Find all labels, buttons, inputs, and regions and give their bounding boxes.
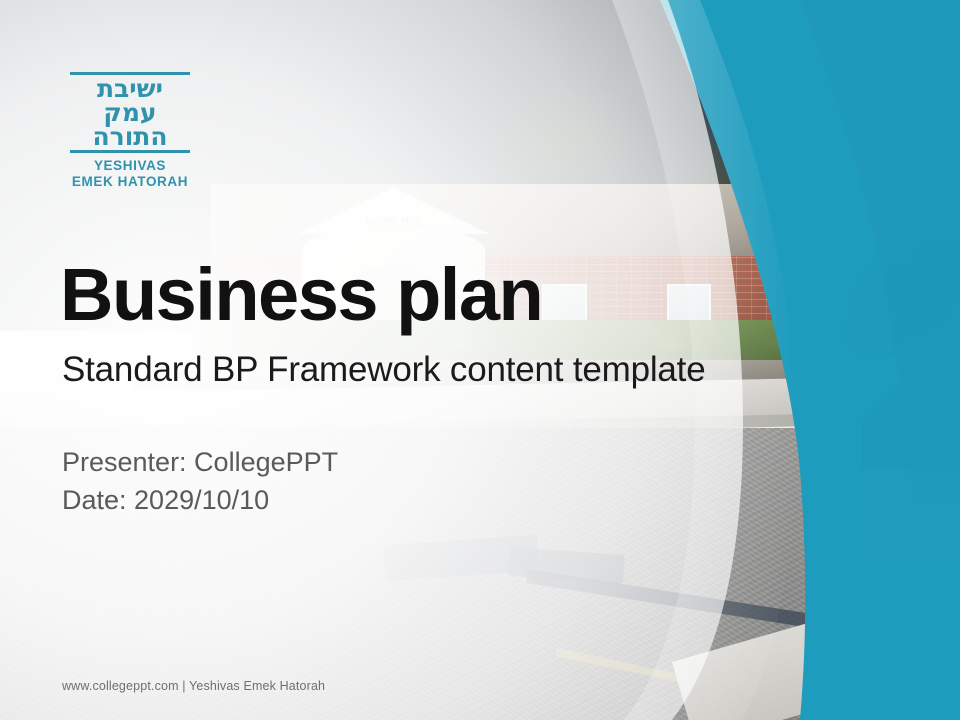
- presenter-line: Presenter: CollegePPT: [62, 443, 338, 481]
- title-slide: בית מדרש: [0, 0, 960, 720]
- presentation-meta: Presenter: CollegePPT Date: 2029/10/10: [62, 443, 338, 520]
- logo-hebrew-text: ישיבת עמק התורה: [64, 75, 196, 150]
- logo-hebrew-line-3: התורה: [64, 125, 196, 149]
- logo[interactable]: ישיבת עמק התורה YESHIVAS EMEK HATORAH: [64, 72, 196, 190]
- pediment-hebrew-text: בית מדרש: [298, 216, 490, 228]
- logo-english-line-2: EMEK HATORAH: [64, 174, 196, 190]
- slide-footer: www.collegeppt.com | Yeshivas Emek Hator…: [62, 679, 325, 693]
- logo-english-line-1: YESHIVAS: [64, 158, 196, 174]
- slide-subtitle: Standard BP Framework content template: [62, 352, 705, 387]
- logo-english-text: YESHIVAS EMEK HATORAH: [64, 158, 196, 190]
- slide-title: Business plan: [60, 258, 542, 332]
- date-line: Date: 2029/10/10: [62, 481, 338, 519]
